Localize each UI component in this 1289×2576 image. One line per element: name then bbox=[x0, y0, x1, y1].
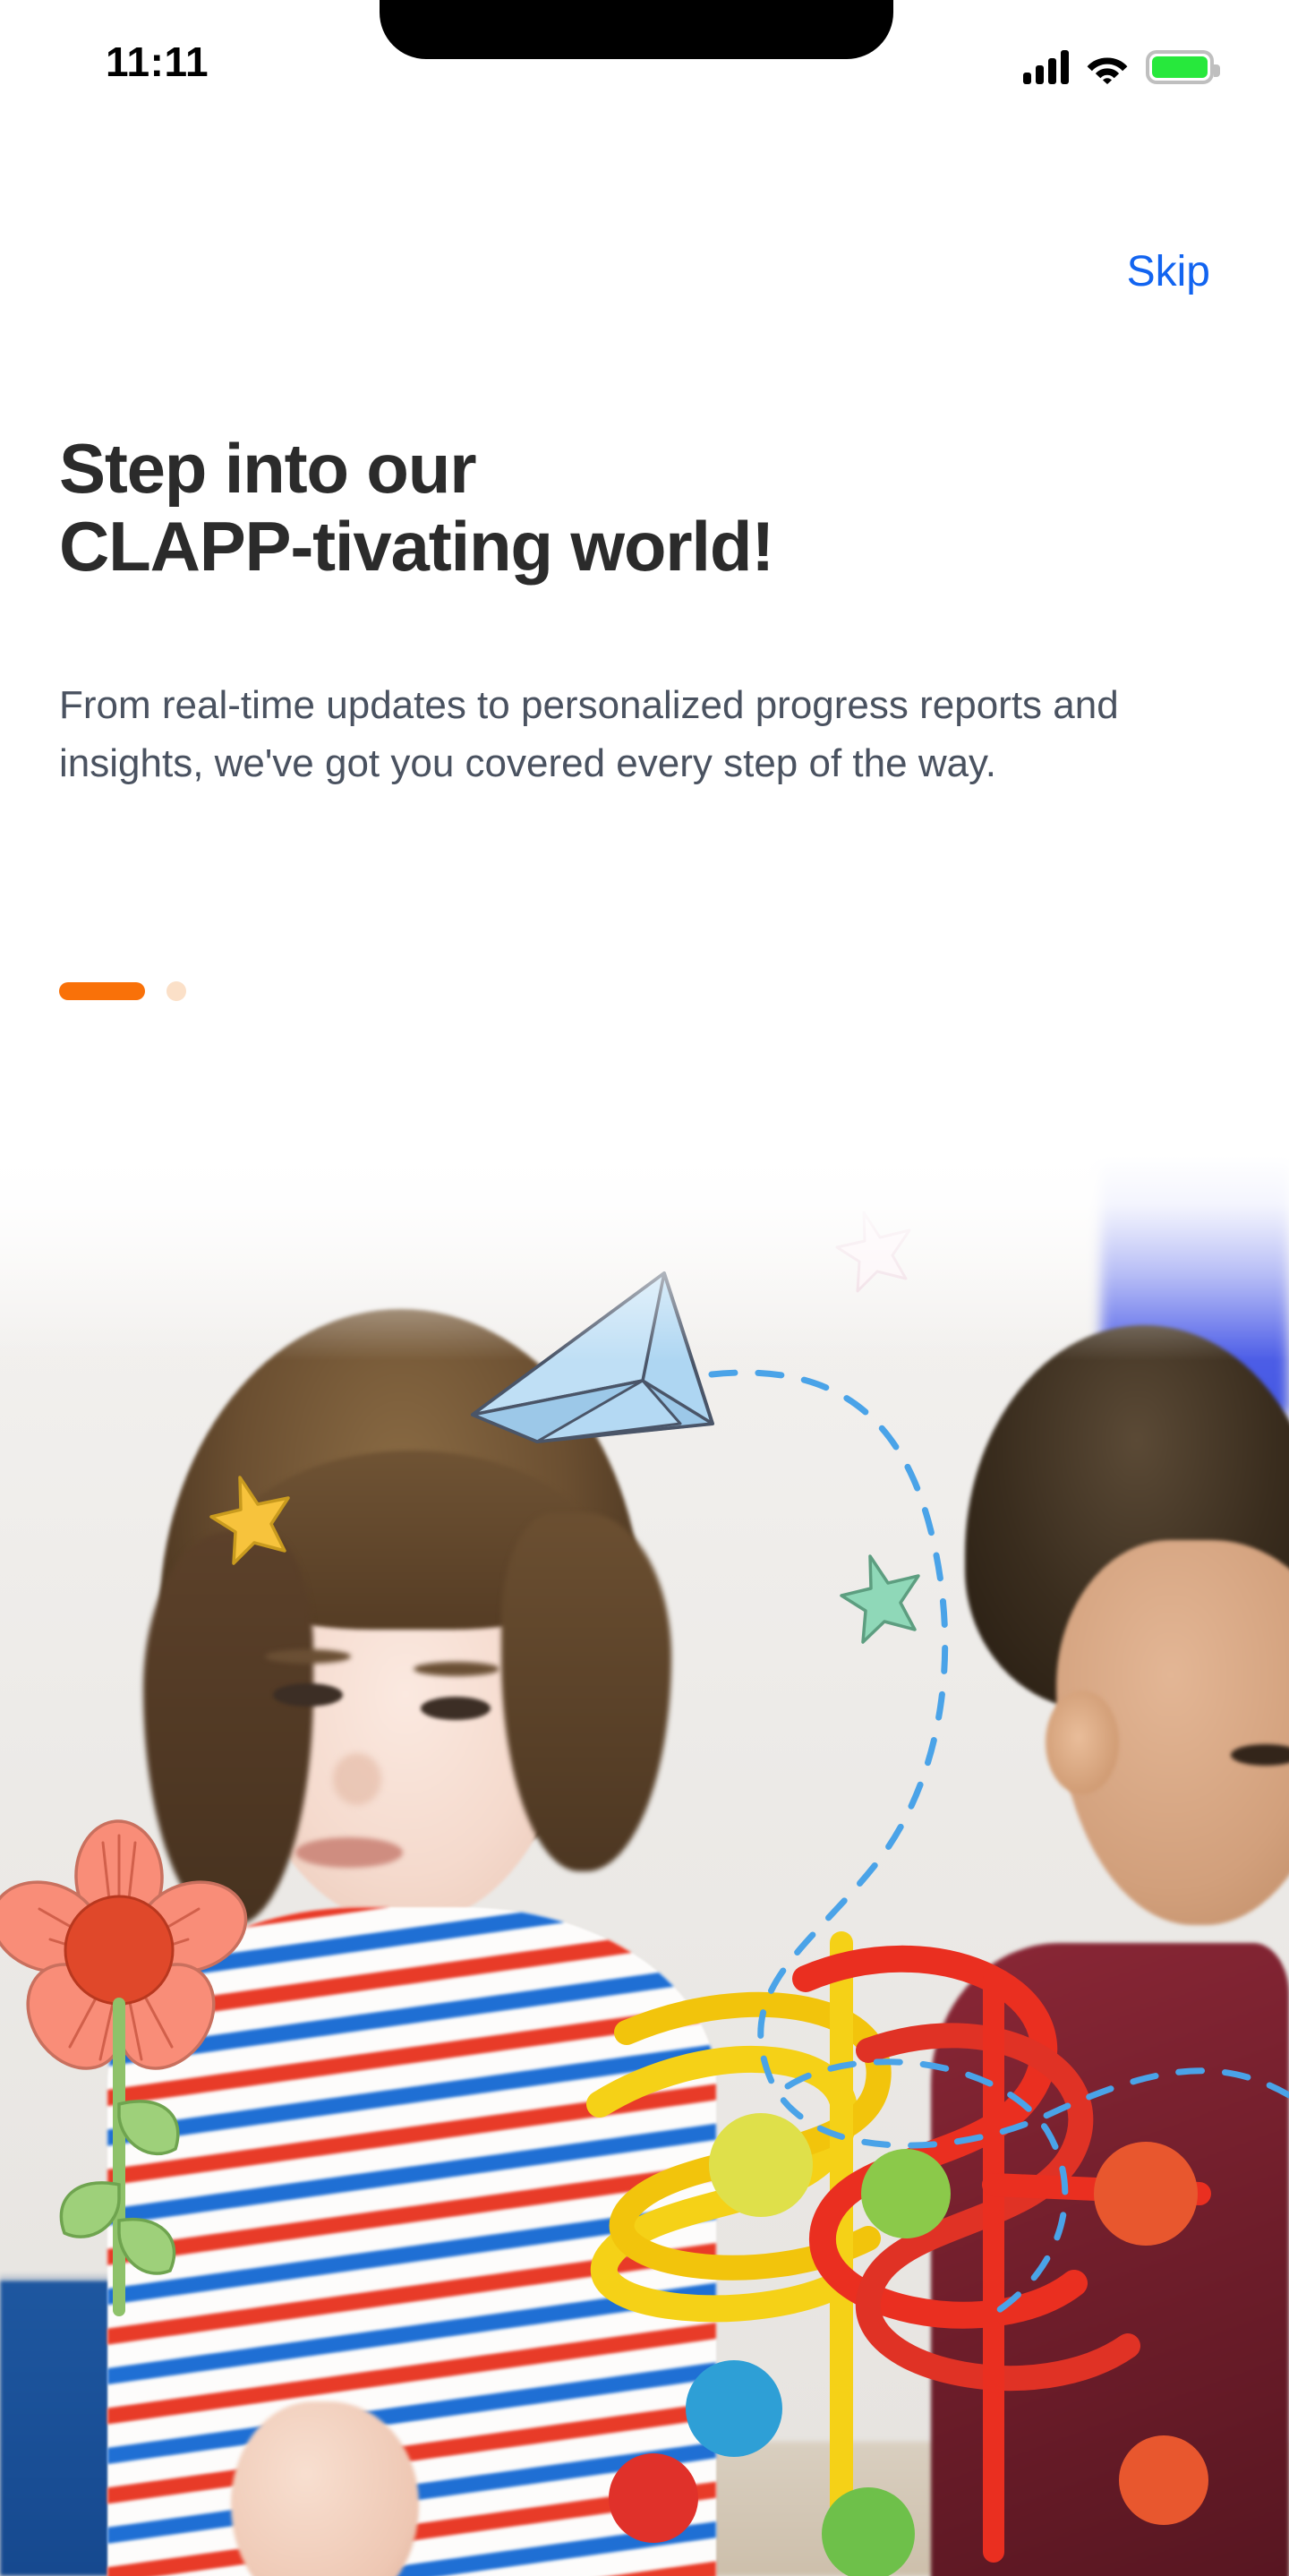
girl-brow-left bbox=[265, 1649, 351, 1664]
cellular-signal-icon bbox=[1023, 50, 1069, 84]
device-notch bbox=[380, 0, 893, 59]
boy-ear bbox=[1046, 1690, 1119, 1794]
battery-icon bbox=[1146, 50, 1214, 84]
girl-nose bbox=[333, 1753, 381, 1805]
status-bar-time: 11:11 bbox=[106, 41, 209, 82]
bead-maze-toy bbox=[573, 1925, 1199, 2576]
skip-button[interactable]: Skip bbox=[1116, 244, 1221, 301]
page-description: From real-time updates to personalized p… bbox=[59, 676, 1196, 792]
pagination-dots[interactable] bbox=[59, 981, 186, 1001]
hero-photo bbox=[0, 1155, 1289, 2576]
wifi-icon bbox=[1087, 52, 1128, 84]
hero-illustration bbox=[0, 1155, 1289, 2576]
status-bar: 11:11 bbox=[0, 0, 1289, 107]
page-title: Step into our CLAPP-tivating world! bbox=[59, 430, 1115, 586]
pagination-dot-2[interactable] bbox=[166, 981, 186, 1001]
status-bar-indicators bbox=[1023, 45, 1214, 84]
girl-eye-left bbox=[273, 1683, 343, 1707]
photo-top-fade bbox=[0, 1155, 1289, 1361]
girl-mouth bbox=[295, 1837, 403, 1868]
pagination-dot-active[interactable] bbox=[59, 982, 145, 1000]
girl-brow-right bbox=[414, 1662, 499, 1676]
girl-eye-right bbox=[421, 1697, 491, 1720]
